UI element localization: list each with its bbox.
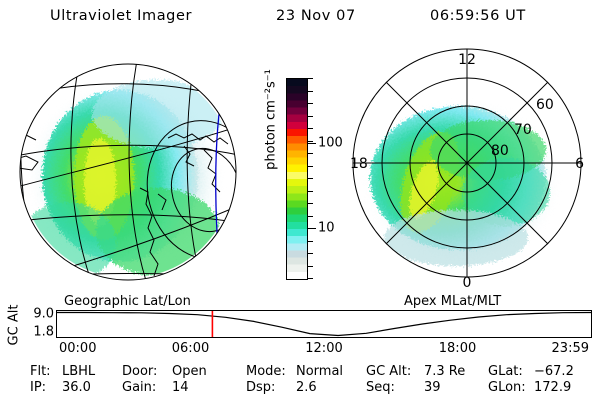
colorbar-label-10: 10 bbox=[318, 221, 335, 236]
geographic-plot bbox=[8, 42, 268, 300]
footer-value: 36.0 bbox=[62, 380, 91, 395]
timeline-x-ticks: 00:0006:0012:0018:0023:59 bbox=[0, 341, 600, 359]
footer-label: GC Alt: bbox=[366, 364, 411, 379]
footer-value: LBHL bbox=[62, 364, 95, 379]
caption-apex: Apex MLat/MLT bbox=[404, 294, 501, 309]
footer-label: Seq: bbox=[366, 380, 395, 395]
footer-label: IP: bbox=[30, 380, 46, 395]
altitude-curve bbox=[57, 311, 591, 337]
colorbar-tick bbox=[307, 178, 313, 179]
colorbar-tick bbox=[307, 278, 313, 279]
colorbar-tick bbox=[307, 153, 313, 154]
colorbar-tick bbox=[307, 253, 313, 254]
footer-value: −67.2 bbox=[534, 364, 574, 379]
colorbar-major-tick bbox=[307, 143, 316, 144]
colorbar-tick bbox=[307, 141, 313, 142]
colorbar-tick bbox=[307, 216, 313, 217]
colorbar-tick bbox=[307, 191, 313, 192]
timeline-y-tick-1.8: 1.8 bbox=[33, 325, 54, 340]
timeline-x-tick: 06:00 bbox=[172, 341, 209, 356]
status-footer: Flt:LBHLDoor:OpenMode:NormalGC Alt:7.3 R… bbox=[0, 364, 600, 398]
mlat-label-60: 60 bbox=[536, 97, 554, 113]
footer-label: Door: bbox=[122, 364, 157, 379]
header: Ultraviolet Imager 23 Nov 07 06:59:56 UT bbox=[0, 8, 600, 30]
colorbar-tick bbox=[307, 241, 313, 242]
colorbar-tick bbox=[307, 116, 313, 117]
colorbar-tick bbox=[307, 91, 313, 92]
mlt-label-18: 18 bbox=[350, 156, 368, 172]
observation-date: 23 Nov 07 bbox=[276, 8, 356, 24]
colorbar-scale bbox=[286, 78, 308, 280]
timeline-y-ticks: 9.01.8 bbox=[20, 310, 54, 338]
observation-time: 06:59:56 UT bbox=[430, 8, 526, 24]
footer-value: 172.9 bbox=[534, 380, 571, 395]
timeline-x-tick: 18:00 bbox=[439, 341, 476, 356]
colorbar-tick bbox=[307, 266, 313, 267]
footer-label: GLat: bbox=[488, 364, 523, 379]
mlat-label-80: 80 bbox=[491, 143, 509, 159]
polar-plot: 12 18 6 0 60 70 80 bbox=[338, 42, 596, 300]
altitude-timeline[interactable] bbox=[56, 310, 592, 338]
instrument-title: Ultraviolet Imager bbox=[50, 8, 192, 24]
footer-value: 14 bbox=[172, 380, 189, 395]
mlt-label-6: 6 bbox=[575, 156, 584, 172]
mlt-label-12: 12 bbox=[458, 52, 476, 68]
mlt-spokes bbox=[353, 49, 581, 277]
colorbar-tick bbox=[307, 166, 313, 167]
footer-value: Open bbox=[172, 364, 207, 379]
colorbar-tick bbox=[307, 128, 313, 129]
footer-value: Normal bbox=[296, 364, 343, 379]
footer-value: 2.6 bbox=[296, 380, 317, 395]
colorbar-gradient bbox=[287, 79, 307, 279]
footer-label: GLon: bbox=[488, 380, 526, 395]
footer-label: Dsp: bbox=[246, 380, 275, 395]
footer-label: Flt: bbox=[30, 364, 51, 379]
colorbar-tick bbox=[307, 78, 313, 79]
mlat-label-70: 70 bbox=[514, 122, 532, 138]
timeline-x-tick: 23:59 bbox=[552, 341, 589, 356]
footer-label: Mode: bbox=[246, 364, 286, 379]
colorbar-tick bbox=[307, 103, 313, 104]
timeline-y-tick-9.0: 9.0 bbox=[33, 307, 54, 322]
colorbar-tick bbox=[307, 203, 313, 204]
apex-polar-panel: 12 18 6 0 60 70 80 bbox=[338, 42, 596, 300]
footer-value: 7.3 Re bbox=[424, 364, 465, 379]
altitude-polyline bbox=[57, 313, 591, 336]
colorbar-major-tick bbox=[307, 228, 316, 229]
timeline-x-tick: 00:00 bbox=[59, 341, 96, 356]
footer-label: Gain: bbox=[122, 380, 156, 395]
footer-value: 39 bbox=[424, 380, 441, 395]
geographic-image-panel bbox=[8, 42, 268, 300]
colorbar-title: photon cm⁻²s⁻¹ bbox=[264, 45, 279, 195]
timeline-x-tick: 12:00 bbox=[305, 341, 342, 356]
mlt-label-0: 0 bbox=[463, 275, 472, 291]
caption-geographic: Geographic Lat/Lon bbox=[64, 294, 191, 309]
colorbar: photon cm⁻²s⁻¹ 10010 bbox=[258, 52, 338, 302]
